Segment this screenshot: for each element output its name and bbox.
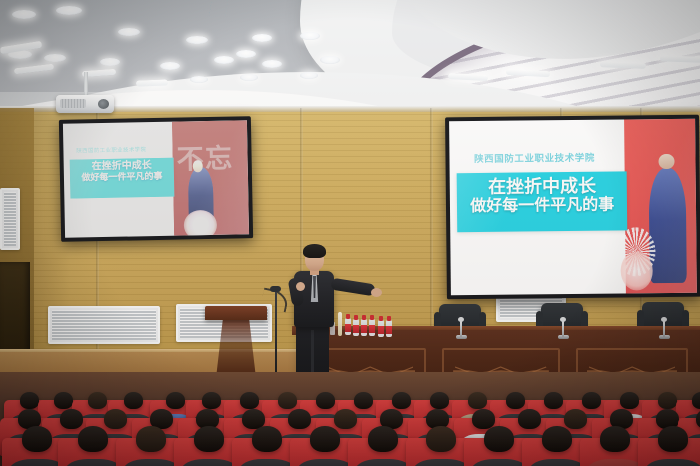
left-projection-screen: 不忘 陕西国防工业职业技术学院 在挫折中成长 做好每一件平凡的事 [59,116,253,242]
audience-head-r3-2 [78,426,108,452]
left-slide-headline-2: 做好每一件平凡的事 [69,172,174,184]
downlight-16 [240,74,258,81]
audience-head-r3-8 [426,426,456,452]
downlight-11 [214,56,234,64]
downlight-6 [300,32,320,40]
water-bottle-4 [369,319,375,336]
downlight-9 [100,58,120,66]
audience-head-r2-11 [472,409,495,429]
downlight-1 [12,10,36,19]
downlight-2 [56,6,82,15]
audience-head-r1-13 [468,392,487,409]
audience-head-r3-3 [136,426,166,452]
audience-head-r1-16 [582,392,601,409]
auditorium-photo: 不忘 陕西国防工业职业技术学院 在挫折中成长 做好每一件平凡的事 陕西国防工业职… [0,0,700,466]
downlight-3 [118,28,140,36]
water-bottle-1 [345,318,351,335]
downlight-15 [190,76,208,83]
audience [0,372,700,466]
downlight-8 [44,54,66,62]
left-slide: 不忘 陕西国防工业职业技术学院 在挫折中成长 做好每一件平凡的事 [63,120,249,238]
downlight-12 [262,60,282,68]
right-slide-band: 在挫折中成长 做好每一件平凡的事 [457,172,627,233]
audience-head-r3-6 [310,426,340,452]
downlight-14 [320,56,340,64]
lectern-top [205,306,267,320]
audience-head-r2-3 [104,409,127,429]
audience-head-r2-12 [518,409,541,429]
table-microphone-2 [562,320,564,337]
left-slide-header: 陕西国防工业职业技术学院 [76,145,146,154]
right-projection-screen: 陕西国防工业职业技术学院 在挫折中成长 做好每一件平凡的事 [445,115,700,300]
table-microphone-1 [460,320,462,337]
audience-head-r1-4 [124,392,143,409]
downlight-5 [252,34,272,42]
speaker-left-hand [296,282,305,291]
audience-head-r3-5 [252,426,282,452]
right-slide-person-figure [649,168,687,283]
water-bottle-5 [378,320,384,337]
audience-head-r1-3 [88,392,107,409]
left-slide-band: 在挫折中成长 做好每一件平凡的事 [69,158,175,199]
audience-head-r3-7 [368,426,398,452]
water-bottle-3 [361,319,367,336]
audience-head-r2-7 [288,409,311,429]
wall-vent-grille-1 [48,306,160,344]
audience-head-r1-7 [240,392,259,409]
audience-head-r2-2 [60,409,83,429]
wall-vent-grille-4 [0,188,20,250]
audience-head-r3-1 [22,426,52,452]
left-slide-bloom [184,210,218,238]
projector-vent-icon [60,99,86,108]
downlight-17 [300,72,318,79]
audience-head-r3-9 [484,426,514,452]
audience-head-r1-2 [54,392,73,409]
striplight-4 [136,79,168,86]
table-candle-light [338,312,342,336]
water-bottle-2 [353,319,359,336]
audience-head-r3-12 [658,426,688,452]
audience-head-r3-4 [194,426,224,452]
audience-head-r1-10 [354,392,373,409]
right-slide-red-panel [624,119,697,294]
projector-lens-icon [98,99,109,109]
downlight-10 [160,62,180,70]
audience-head-r2-8 [334,409,357,429]
audience-head-r1-8 [278,392,297,409]
speaker-leg-split [311,330,314,378]
audience-head-r1-15 [544,392,563,409]
right-slide-person-head [658,154,674,170]
speaker-hair [303,244,326,258]
right-slide-headline-1: 在挫折中成长 [457,177,627,198]
audience-head-r1-17 [620,392,639,409]
right-slide: 陕西国防工业职业技术学院 在挫折中成长 做好每一件平凡的事 [449,119,697,296]
left-slide-person-head [193,160,203,173]
audience-head-r1-14 [506,392,525,409]
floor-microphone-head-icon [270,286,281,292]
right-slide-bloom [621,251,653,290]
downlight-4 [186,36,208,44]
audience-head-r1-5 [166,392,185,409]
audience-head-r1-11 [392,392,411,409]
audience-head-r1-18 [658,392,677,409]
speaker-right-hand [371,288,382,297]
audience-head-r1-1 [20,392,39,409]
audience-head-r1-12 [430,392,449,409]
water-bottle-6 [386,320,392,337]
right-slide-headline-2: 做好每一件平凡的事 [457,196,627,215]
downlight-13 [236,50,256,58]
right-slide-header: 陕西国防工业职业技术学院 [474,149,595,164]
audience-head-r1-6 [202,392,221,409]
floor-microphone-stand [275,290,277,378]
left-slide-red-panel: 不忘 [171,120,249,235]
table-microphone-3 [663,320,665,337]
audience-head-r3-10 [542,426,572,452]
audience-head-r2-13 [564,409,587,429]
audience-head-r3-11 [600,426,630,452]
audience-head-r1-9 [316,392,335,409]
